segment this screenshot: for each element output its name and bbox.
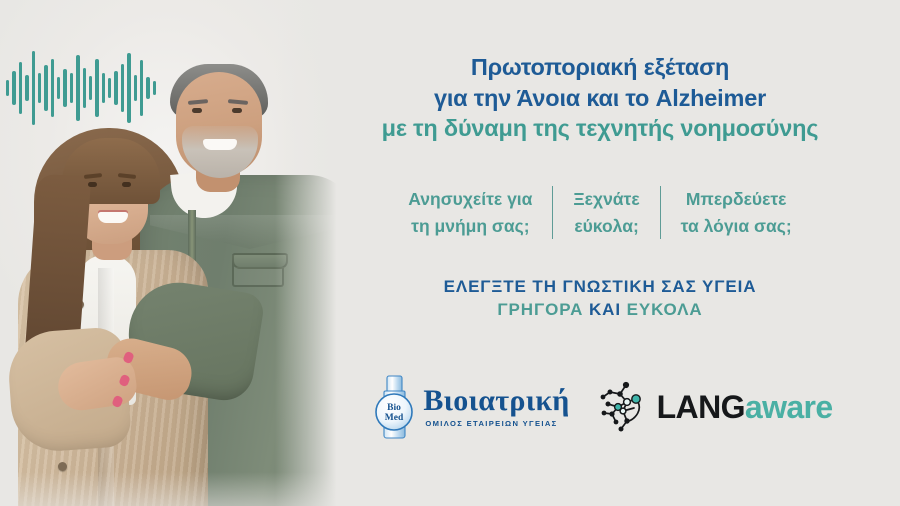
waveform-bar — [134, 75, 137, 101]
cta-word-kai: ΚΑΙ — [589, 300, 621, 319]
question-1-line-1: Ανησυχείτε για — [408, 186, 532, 213]
waveform-bar — [95, 59, 98, 117]
photo-bottom-fade — [0, 472, 345, 506]
question-3-line-2: τα λόγια σας; — [681, 213, 792, 240]
biomed-subtitle: ΟΜΙΛΟΣ ΕΤΑΙΡΕΙΩΝ ΥΓΕΙΑΣ — [425, 420, 569, 428]
man-smile — [203, 139, 237, 150]
cta-word-grigora: ΓΡΗΓΟΡΑ — [497, 300, 583, 319]
question-2-line-2: εύκολα; — [573, 213, 639, 240]
biomed-wordmark: Βιοιατρική ΟΜΙΛΟΣ ΕΤΑΙΡΕΙΩΝ ΥΓΕΙΑΣ — [423, 386, 569, 428]
waveform-bar — [108, 78, 111, 98]
biomed-badge-bio: Bio — [388, 403, 402, 413]
headline-line-2: για την Άνοια και το Alzheimer — [300, 83, 900, 114]
question-2-line-1: Ξεχνάτε — [573, 186, 639, 213]
headline-block: Πρωτοποριακή εξέταση για την Άνοια και τ… — [300, 52, 900, 144]
langaware-name-aware: aware — [745, 389, 833, 425]
biomed-logo[interactable]: Bio Med Βιοιατρική ΟΜΙΛΟΣ ΕΤΑΙΡΕΙΩΝ ΥΓΕΙ… — [367, 374, 569, 440]
woman-smile — [98, 212, 128, 223]
waveform-bar — [38, 73, 41, 103]
woman-eye-left — [88, 182, 97, 187]
waveform-bar — [25, 75, 28, 101]
woman-cardigan-button — [58, 462, 67, 471]
test-tube-icon: Bio Med — [367, 374, 421, 440]
biomed-badge-med: Med — [385, 413, 404, 423]
langaware-name-lang: LANG — [657, 389, 745, 425]
waveform-bar — [19, 62, 22, 114]
waveform-bar — [44, 65, 47, 111]
question-column-2: Ξεχνάτε εύκολα; — [553, 184, 659, 241]
promo-banner: Πρωτοποριακή εξέταση για την Άνοια και τ… — [0, 0, 900, 506]
logo-row: Bio Med Βιοιατρική ΟΜΙΛΟΣ ΕΤΑΙΡΕΙΩΝ ΥΓΕΙ… — [300, 368, 900, 446]
waveform-bar — [12, 71, 15, 105]
waveform-bar — [32, 51, 35, 125]
waveform-bar — [114, 71, 117, 105]
waveform-bar — [70, 73, 73, 103]
waveform-bar — [6, 80, 9, 96]
waveform-bar — [63, 69, 66, 107]
question-column-1: Ανησυχείτε για τη μνήμη σας; — [388, 184, 552, 241]
waveform-bar — [146, 77, 149, 99]
neural-network-icon — [596, 380, 648, 434]
question-column-3: Μπερδεύετε τα λόγια σας; — [661, 184, 812, 241]
question-1-line-2: τη μνήμη σας; — [408, 213, 532, 240]
cta-word-efkola: ΕΥΚΟΛΑ — [627, 300, 703, 319]
question-3-line-1: Μπερδεύετε — [681, 186, 792, 213]
headline-line-3: με τη δύναμη της τεχνητής νοημοσύνης — [300, 113, 900, 144]
waveform-bar — [51, 59, 54, 117]
questions-row: Ανησυχείτε για τη μνήμη σας; Ξεχνάτε εύκ… — [300, 184, 900, 241]
waveform-bar — [89, 76, 92, 100]
cta-block: ΕΛΕΓΞΤΕ ΤΗ ΓΝΩΣΤΙΚΗ ΣΑΣ ΥΓΕΙΑ ΓΡΗΓΟΡΑ ΚΑ… — [300, 276, 900, 322]
waveform-bar — [140, 60, 143, 116]
langaware-logo[interactable]: LANGaware — [596, 380, 833, 434]
waveform-bar — [153, 81, 156, 95]
waveform-bar — [121, 64, 124, 112]
waveform-bar — [57, 77, 60, 99]
cta-line-1: ΕΛΕΓΞΤΕ ΤΗ ΓΝΩΣΤΙΚΗ ΣΑΣ ΥΓΕΙΑ — [300, 276, 900, 299]
man-eye-right — [232, 108, 242, 113]
waveform-bar — [76, 55, 79, 121]
woman-eye-right — [122, 182, 131, 187]
headline-line-1: Πρωτοποριακή εξέταση — [300, 52, 900, 83]
audio-waveform-icon — [6, 48, 156, 128]
waveform-bar — [83, 68, 86, 108]
biomed-title: Βιοιατρική — [423, 386, 569, 416]
waveform-bar — [127, 53, 130, 123]
cta-line-2: ΓΡΗΓΟΡΑ ΚΑΙ ΕΥΚΟΛΑ — [300, 299, 900, 322]
langaware-wordmark: LANGaware — [657, 389, 833, 426]
waveform-bar — [102, 73, 105, 103]
man-eye-left — [192, 108, 202, 113]
